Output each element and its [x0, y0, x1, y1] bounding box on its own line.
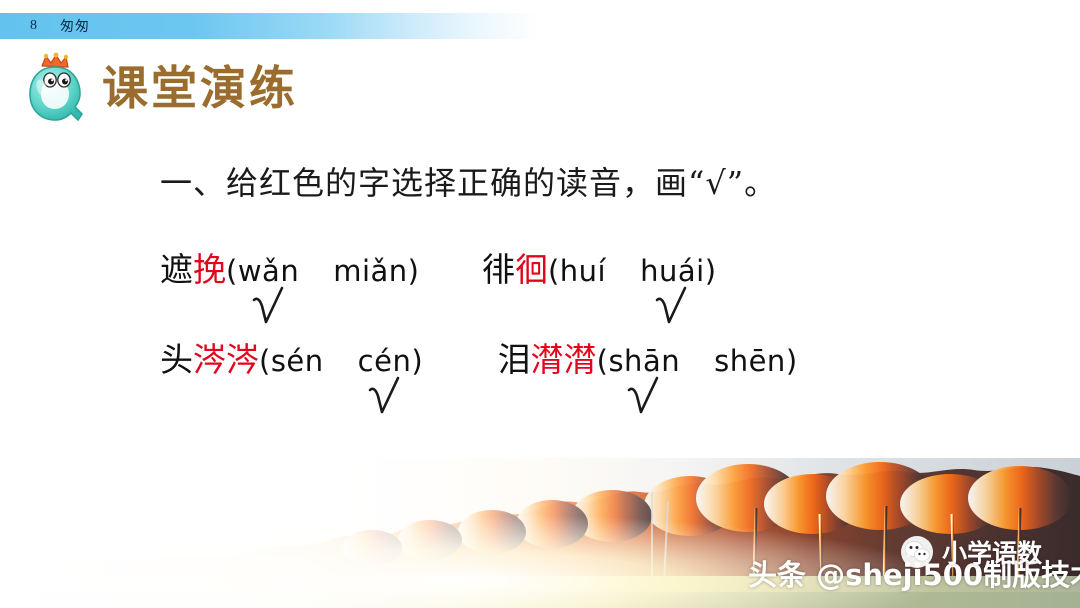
word-prefix: 遮 — [160, 250, 193, 289]
open-paren: ( — [226, 254, 238, 288]
close-paren: ) — [786, 344, 798, 378]
word-prefix: 泪 — [498, 340, 531, 379]
word-red: 潸潸 — [531, 340, 597, 379]
pinyin-option-b-label: cén — [358, 344, 412, 378]
lesson-banner: 8 匆匆 — [0, 13, 1080, 39]
pinyin-option-a[interactable]: huí — [560, 254, 606, 288]
close-paren: ) — [408, 254, 420, 288]
pinyin-option-b-label: shēn — [714, 344, 786, 378]
check-mark-icon — [365, 374, 405, 420]
lesson-banner-content: 8 匆匆 — [30, 13, 90, 39]
pinyin-option-b-label: huái — [640, 254, 705, 288]
pinyin-option-b[interactable]: shēn — [714, 344, 786, 378]
word-text: 泪潸潸 — [498, 340, 597, 379]
exercise-item: 泪潸潸(shānshēn) — [498, 333, 798, 381]
exercise-item: 遮挽(wǎnmiǎn) — [160, 243, 420, 291]
exercise-row: 头涔涔(séncén) 泪潸潸(shānshēn) — [160, 333, 798, 381]
word-red: 徊 — [515, 250, 548, 289]
pinyin-option-a[interactable]: wǎn — [238, 254, 299, 288]
exercise-row: 遮挽(wǎnmiǎn) 徘徊(huíhuái) — [160, 243, 717, 291]
q-mascot-icon — [22, 52, 88, 124]
lesson-title: 匆匆 — [60, 16, 90, 36]
word-text: 徘徊 — [482, 250, 548, 289]
check-mark-icon — [652, 284, 692, 330]
wechat-icon — [900, 535, 934, 569]
exercise-item: 头涔涔(séncén) — [160, 333, 423, 381]
wechat-watermark-label: 小学语数 — [942, 534, 1042, 570]
pinyin-option-a-label: sén — [271, 344, 324, 378]
close-paren: ) — [705, 254, 717, 288]
check-mark-icon — [249, 284, 289, 330]
pinyin-option-b[interactable]: cén — [358, 344, 412, 378]
pinyin-option-a-label: wǎn — [238, 254, 299, 288]
open-paren: ( — [597, 344, 609, 378]
pinyin-option-a-label: shān — [608, 344, 680, 378]
open-paren: ( — [259, 344, 271, 378]
section-heading-title: 课堂演练 — [102, 65, 298, 111]
pinyin-option-b-label: miǎn — [333, 254, 407, 288]
wechat-watermark: 小学语数 — [900, 534, 1042, 570]
lesson-number: 8 — [30, 18, 38, 34]
word-prefix: 徘 — [482, 250, 515, 289]
slide-root: 8 匆匆 — [0, 0, 1080, 608]
open-paren: ( — [548, 254, 560, 288]
word-text: 头涔涔 — [160, 340, 259, 379]
word-text: 遮挽 — [160, 250, 226, 289]
pinyin-option-b[interactable]: miǎn — [333, 254, 407, 288]
word-prefix: 头 — [160, 340, 193, 379]
word-red: 涔涔 — [193, 340, 259, 379]
pinyin-option-a[interactable]: sén — [271, 344, 324, 378]
pinyin-option-b[interactable]: huái — [640, 254, 705, 288]
exercise-prompt: 一、给红色的字选择正确的读音，画“√”。 — [160, 158, 777, 204]
section-heading: 课堂演练 — [22, 52, 298, 124]
pinyin-option-a[interactable]: shān — [608, 344, 680, 378]
exercise-item: 徘徊(huíhuái) — [482, 243, 717, 291]
pinyin-option-a-label: huí — [560, 254, 606, 288]
check-mark-icon — [624, 374, 664, 420]
close-paren: ) — [411, 344, 423, 378]
word-red: 挽 — [193, 250, 226, 289]
